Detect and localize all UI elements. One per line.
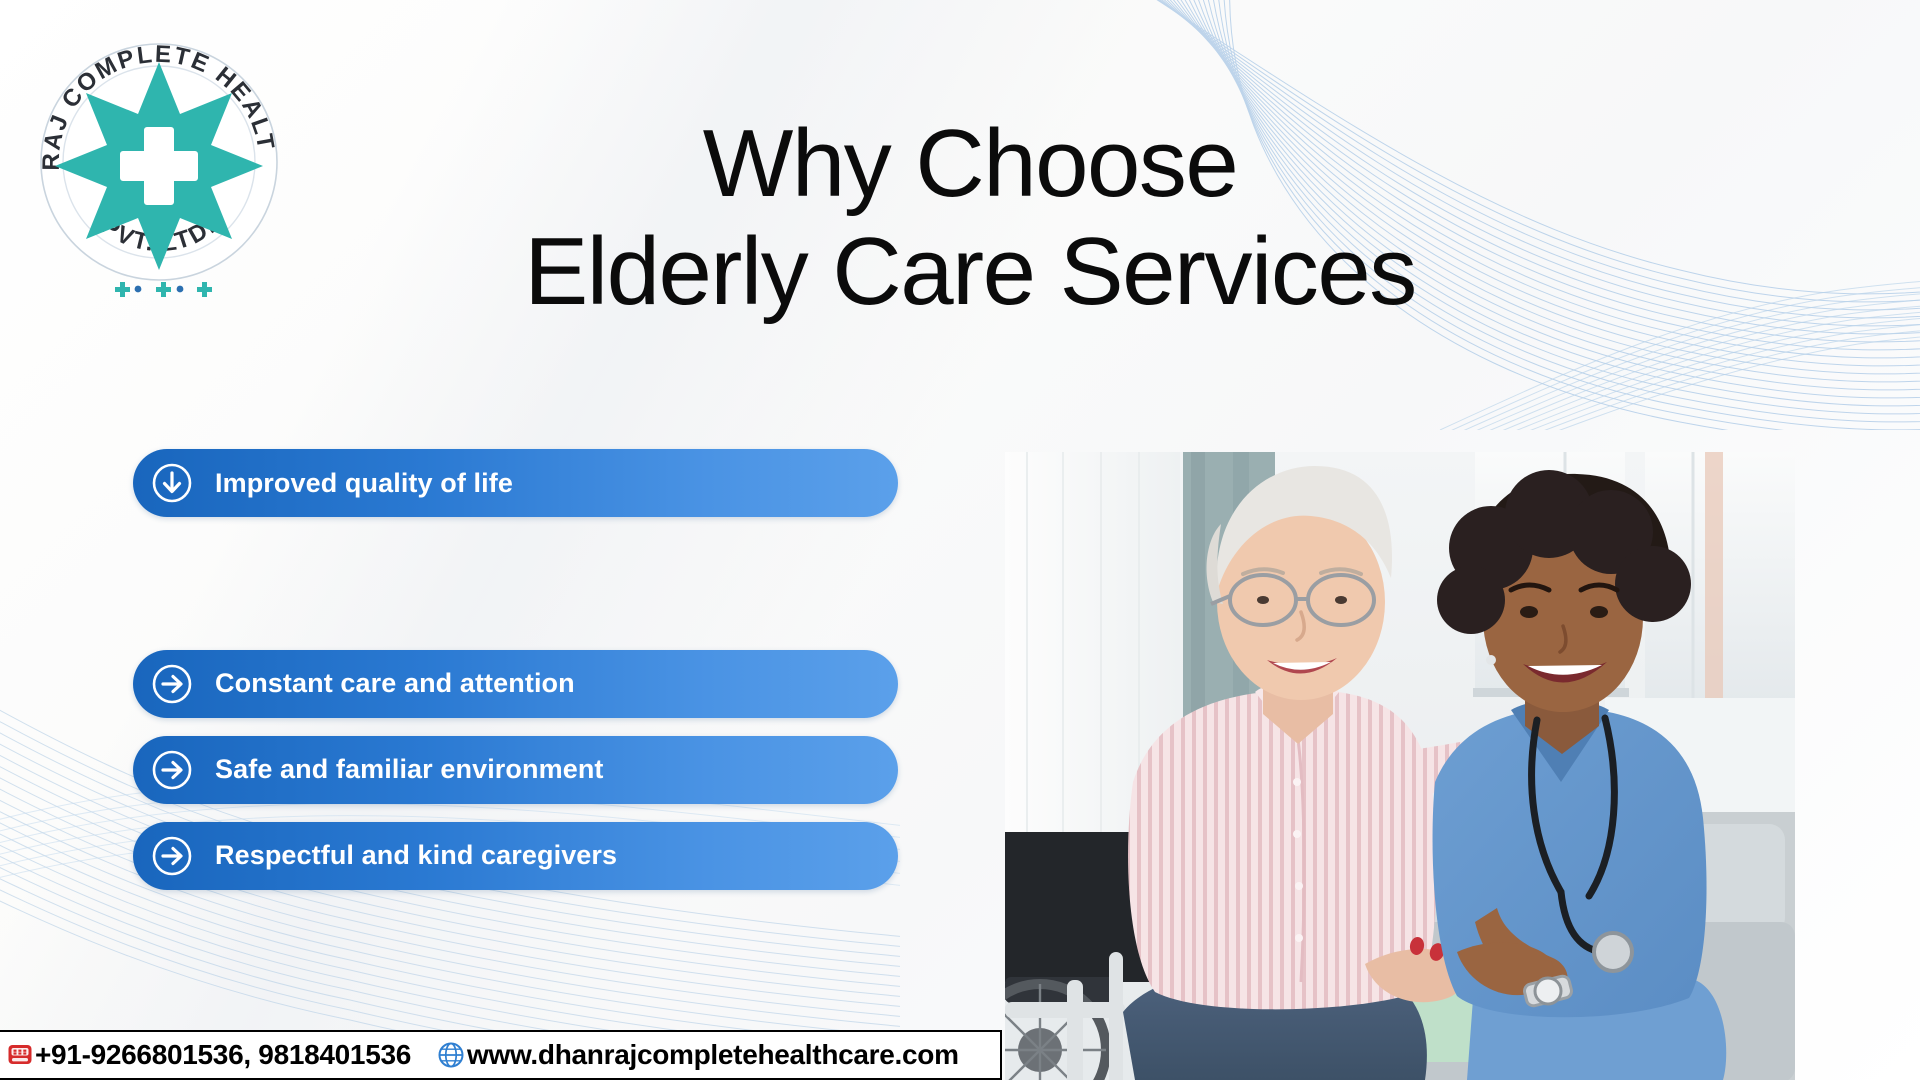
page-title: Why Choose Elderly Care Services xyxy=(440,110,1500,325)
benefits-accordion: Improved quality of life Lorem ipsum dol… xyxy=(133,449,898,908)
title-line-2: Elderly Care Services xyxy=(440,218,1500,326)
logo-star-mark xyxy=(55,62,263,270)
arrow-right-circle-icon[interactable] xyxy=(151,835,193,877)
caregiver-photo xyxy=(1005,452,1795,1080)
company-logo: DHANRAJ COMPLETE HEALTHCARE PVT. LTD. xyxy=(14,10,304,300)
globe-icon xyxy=(437,1041,465,1069)
accordion-item-safe-and-familiar-environment[interactable]: Safe and familiar environment xyxy=(133,736,898,804)
contact-footer-bar: +91-9266801536, 9818401536 www.dhanrajco… xyxy=(0,1030,1002,1080)
photo-illustration xyxy=(1005,452,1795,1080)
footer-website[interactable]: www.dhanrajcompletehealthcare.com xyxy=(437,1039,959,1071)
logo-graphic: DHANRAJ COMPLETE HEALTHCARE PVT. LTD. xyxy=(14,10,304,300)
accordion-label: Respectful and kind caregivers xyxy=(215,840,617,871)
accordion-item-respectful-and-kind-caregivers[interactable]: Respectful and kind caregivers xyxy=(133,822,898,890)
slide-canvas: DHANRAJ COMPLETE HEALTHCARE PVT. LTD. xyxy=(0,0,1920,1080)
accordion-label: Safe and familiar environment xyxy=(215,754,604,785)
footer-phone-text: +91-9266801536, 9818401536 xyxy=(35,1039,411,1071)
footer-website-text: www.dhanrajcompletehealthcare.com xyxy=(467,1039,959,1071)
accordion-label: Constant care and attention xyxy=(215,668,575,699)
arrow-right-circle-icon[interactable] xyxy=(151,749,193,791)
accordion-header[interactable]: Respectful and kind caregivers xyxy=(133,822,898,890)
telephone-icon xyxy=(6,1041,34,1069)
accordion-item-improved-quality-of-life[interactable]: Improved quality of life Lorem ipsum dol… xyxy=(133,449,898,624)
arrow-down-circle-icon[interactable] xyxy=(151,462,193,504)
logo-small-crosses xyxy=(115,282,212,297)
accordion-label: Improved quality of life xyxy=(215,468,513,499)
accordion-item-constant-care-and-attention[interactable]: Constant care and attention xyxy=(133,650,898,718)
footer-phone[interactable]: +91-9266801536, 9818401536 xyxy=(6,1039,411,1071)
arrow-right-circle-icon[interactable] xyxy=(151,663,193,705)
accordion-header[interactable]: Constant care and attention xyxy=(133,650,898,718)
accordion-header[interactable]: Safe and familiar environment xyxy=(133,736,898,804)
title-line-1: Why Choose xyxy=(440,110,1500,218)
accordion-body-text: Lorem ipsum dolor sit amet, consectetur … xyxy=(223,533,823,598)
accordion-header[interactable]: Improved quality of life xyxy=(133,449,898,517)
